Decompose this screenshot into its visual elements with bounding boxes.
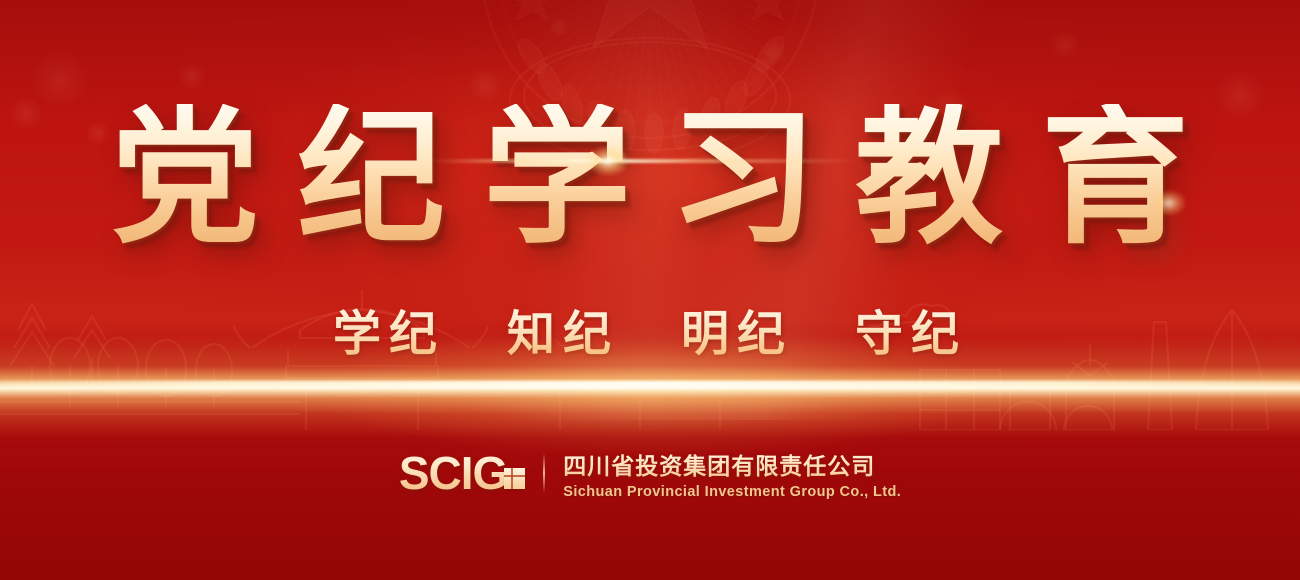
scig-logo-block-icon [504, 468, 525, 489]
subtitle-word-2: 知纪 [507, 294, 619, 364]
logo-divider [543, 453, 545, 493]
subtitle-word-1: 学纪 [333, 294, 445, 364]
title-char-4: 习 [669, 104, 817, 252]
company-logo-lockup: SCIG 四川省投资集团有限责任公司 Sichuan Provincial In… [0, 446, 1300, 500]
company-names: 四川省投资集团有限责任公司 Sichuan Provincial Investm… [563, 447, 901, 500]
subtitle-word-3: 明纪 [681, 294, 793, 364]
horizon-light-beam-core [0, 381, 1300, 388]
scig-wordmark: SCIG [399, 446, 507, 500]
party-discipline-education-banner: 党 纪 学 习 教 育 学纪 知纪 明纪 守纪 SCIG 四川省投资集团有限责任… [0, 0, 1300, 580]
title-char-2: 纪 [297, 104, 445, 252]
subtitle-word-4: 守纪 [855, 294, 967, 364]
scig-logo-icon: SCIG [399, 446, 525, 500]
banner-subtitle: 学纪 知纪 明纪 守纪 [0, 294, 1300, 364]
title-char-5: 教 [855, 104, 1003, 252]
title-char-6: 育 [1041, 104, 1189, 252]
title-char-1: 党 [111, 104, 259, 252]
company-name-cn: 四川省投资集团有限责任公司 [563, 447, 901, 481]
banner-title: 党 纪 学 习 教 育 [0, 104, 1300, 252]
title-char-3: 学 [483, 104, 631, 252]
company-name-en: Sichuan Provincial Investment Group Co.,… [563, 484, 901, 500]
